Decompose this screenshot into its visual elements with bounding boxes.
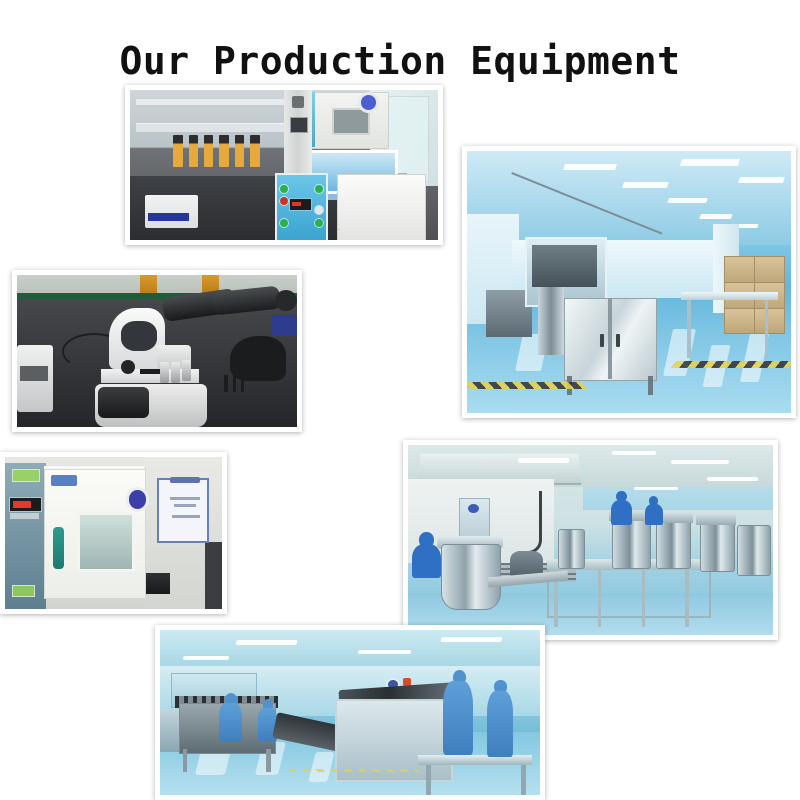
panel-button-red <box>280 197 288 205</box>
cleanroom-ceiling <box>160 630 540 670</box>
worker-figure <box>487 691 514 757</box>
base-dark-section <box>98 387 148 417</box>
black-hand-tool <box>230 336 286 382</box>
oven-door-handle <box>53 527 64 570</box>
carton-box <box>724 256 755 284</box>
tool-tine <box>241 375 244 392</box>
photo-mixing-tanks[interactable] <box>403 440 778 640</box>
photo-microscope-image <box>17 275 297 427</box>
photo-blue-cleanroom[interactable] <box>462 146 796 418</box>
carton-box <box>724 308 755 334</box>
cabinet-door-split <box>608 298 613 379</box>
worker-figure <box>611 500 633 525</box>
ceiling-light <box>518 458 569 463</box>
floor-hazard-tape <box>467 382 587 389</box>
ceiling-light <box>235 640 297 645</box>
oven-knob <box>361 95 376 110</box>
ceiling-light <box>680 159 741 166</box>
rack-leg <box>266 749 271 772</box>
ceiling-light <box>441 637 503 642</box>
steel-column-unit <box>538 287 564 355</box>
sample-tube <box>250 135 260 167</box>
blue-object <box>272 315 297 336</box>
ceiling-light <box>700 214 734 219</box>
ceiling-light <box>563 164 617 170</box>
objective-lens <box>171 362 180 383</box>
clipboard-text-line <box>170 497 200 500</box>
platform-post <box>598 570 602 627</box>
mixing-tank <box>612 517 651 568</box>
panel-button-green <box>280 185 288 193</box>
equipment-gallery-page: Our Production Equipment <box>0 0 800 800</box>
photo-assembly-line-image <box>160 630 540 795</box>
floor-hazard-tape <box>672 361 791 368</box>
oven-brand-logo <box>51 475 77 486</box>
objective-lens <box>182 360 191 381</box>
page-title: Our Production Equipment <box>0 39 800 83</box>
cabinet-label-bottom <box>12 585 36 598</box>
tank-lid <box>696 513 736 524</box>
mixing-tank <box>737 525 772 576</box>
photo-blue-cleanroom-image <box>467 151 791 413</box>
machine-internals <box>532 245 597 287</box>
column-display <box>290 117 307 133</box>
tool-tine <box>224 375 227 392</box>
cabinet-label-top <box>12 469 40 482</box>
table-leg <box>765 300 768 358</box>
cabinet-handle <box>616 334 620 347</box>
focus-knob <box>121 360 135 374</box>
clipboard-text-line <box>174 504 196 507</box>
controller-buttons <box>10 513 38 519</box>
worker-figure <box>443 681 473 755</box>
ceiling-light <box>671 460 729 464</box>
platform-post <box>685 570 689 627</box>
clipboard-clamp <box>170 477 200 483</box>
mixing-tank <box>558 529 586 569</box>
clipboard-text-line <box>172 515 200 518</box>
temperature-display <box>9 497 41 513</box>
photo-mixing-tanks-image <box>408 445 773 635</box>
tool-tine <box>233 375 236 392</box>
worker-figure <box>219 703 242 743</box>
worker-figure <box>645 504 663 525</box>
platform-leg <box>426 765 431 795</box>
mixing-tank <box>700 521 735 572</box>
ceiling-light <box>612 451 656 456</box>
wall-shadow <box>205 542 222 609</box>
stirrer-panel <box>148 213 188 221</box>
panel-led-display <box>289 198 313 211</box>
floor-marking-tape <box>287 769 420 772</box>
stirrer-unit <box>145 195 197 228</box>
objective-lens <box>160 362 169 383</box>
ceiling-light <box>634 487 678 490</box>
photo-lab-testing-bench-image <box>130 90 438 240</box>
ceiling-light <box>738 177 785 183</box>
platform-leg <box>521 765 526 795</box>
instrument-detail <box>20 366 48 381</box>
oven-control-knob <box>129 490 146 508</box>
column-badge <box>292 96 304 108</box>
carton-box <box>753 308 784 334</box>
wall-conduit <box>525 491 543 555</box>
panel-button-green <box>280 219 288 227</box>
cabinet-handle <box>600 334 604 347</box>
ceiling-light <box>667 198 708 203</box>
rack-leg <box>183 749 188 772</box>
mixing-tank <box>656 519 691 569</box>
photo-drying-oven-image <box>5 457 222 609</box>
microscope-arm-cutout <box>121 321 157 351</box>
work-platform <box>418 755 532 765</box>
steel-table <box>681 292 778 300</box>
sample-tube <box>219 135 229 167</box>
ceiling-light <box>622 182 669 188</box>
ceiling-light <box>707 477 758 481</box>
wall-clipboard <box>157 478 209 543</box>
photo-lab-testing-bench[interactable] <box>125 85 443 245</box>
table-leg <box>687 300 690 358</box>
white-cabinet <box>337 174 425 240</box>
sample-tube <box>204 135 214 167</box>
ceiling-light <box>357 650 411 654</box>
photo-drying-oven[interactable] <box>0 452 227 614</box>
photo-assembly-line[interactable] <box>155 625 545 800</box>
worker-figure <box>412 544 441 578</box>
photo-microscope[interactable] <box>12 270 302 432</box>
sample-tube <box>235 135 245 167</box>
platform-post <box>642 570 646 627</box>
sample-tube <box>173 135 183 167</box>
cabinet-leg <box>648 376 653 394</box>
oven-viewing-window <box>77 512 135 573</box>
oven-window <box>332 108 370 135</box>
sample-tube <box>189 135 199 167</box>
carton-box <box>753 256 784 284</box>
